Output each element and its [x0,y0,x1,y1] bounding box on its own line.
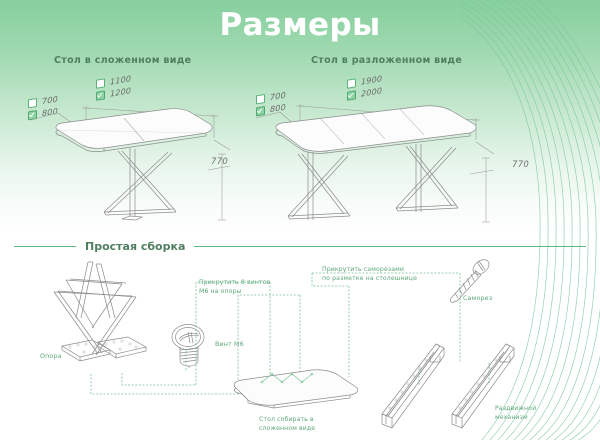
folded-table-drawing [18,78,256,223]
section-heading-open: Стол в разложенном виде [311,55,462,66]
step-bolts-line1: Прикрутить 8 винтов [199,279,270,286]
section-heading-folded: Стол в сложенном виде [54,55,191,66]
step-screws-line1: Прикрутить саморезами [322,266,404,273]
bolt-icon [168,322,212,370]
step-bolts-text: Прикрутить 8 винтов М6 на опоры [199,279,270,296]
mechanism-label: Раздвижной механизм [495,405,536,422]
step-screws-line2: по разметке на столешнице [322,275,417,282]
screw-label: Саморез [463,294,492,303]
bolt-label: Винт М6 [215,340,244,349]
open-height-dim: 770 [512,160,529,170]
step-screws-text: Прикрутить саморезами по разметке на сто… [322,266,417,283]
step-folded-line2: сложенном виде [259,425,315,432]
infographic-page: Размеры Стол в сложенном виде 1100 1200 … [0,0,600,440]
divider-line-left [14,246,76,247]
tabletop-drawing [220,368,370,414]
folded-height-dim: 770 [211,157,228,167]
mechanism-line1: Раздвижной [495,405,536,412]
divider-line-right [194,246,586,247]
open-table-drawing [248,78,534,226]
step-folded-line1: Стол собирать в [259,416,314,423]
page-title: Размеры [0,7,600,43]
assembly-divider: Простая сборка [14,240,586,253]
step-bolts-line2: М6 на опоры [199,288,242,295]
step-folded-text: Стол собирать в сложенном виде [259,416,315,433]
assembly-heading: Простая сборка [76,240,194,253]
support-label: Опора [40,352,62,361]
mechanism-line2: механизм [495,414,528,421]
